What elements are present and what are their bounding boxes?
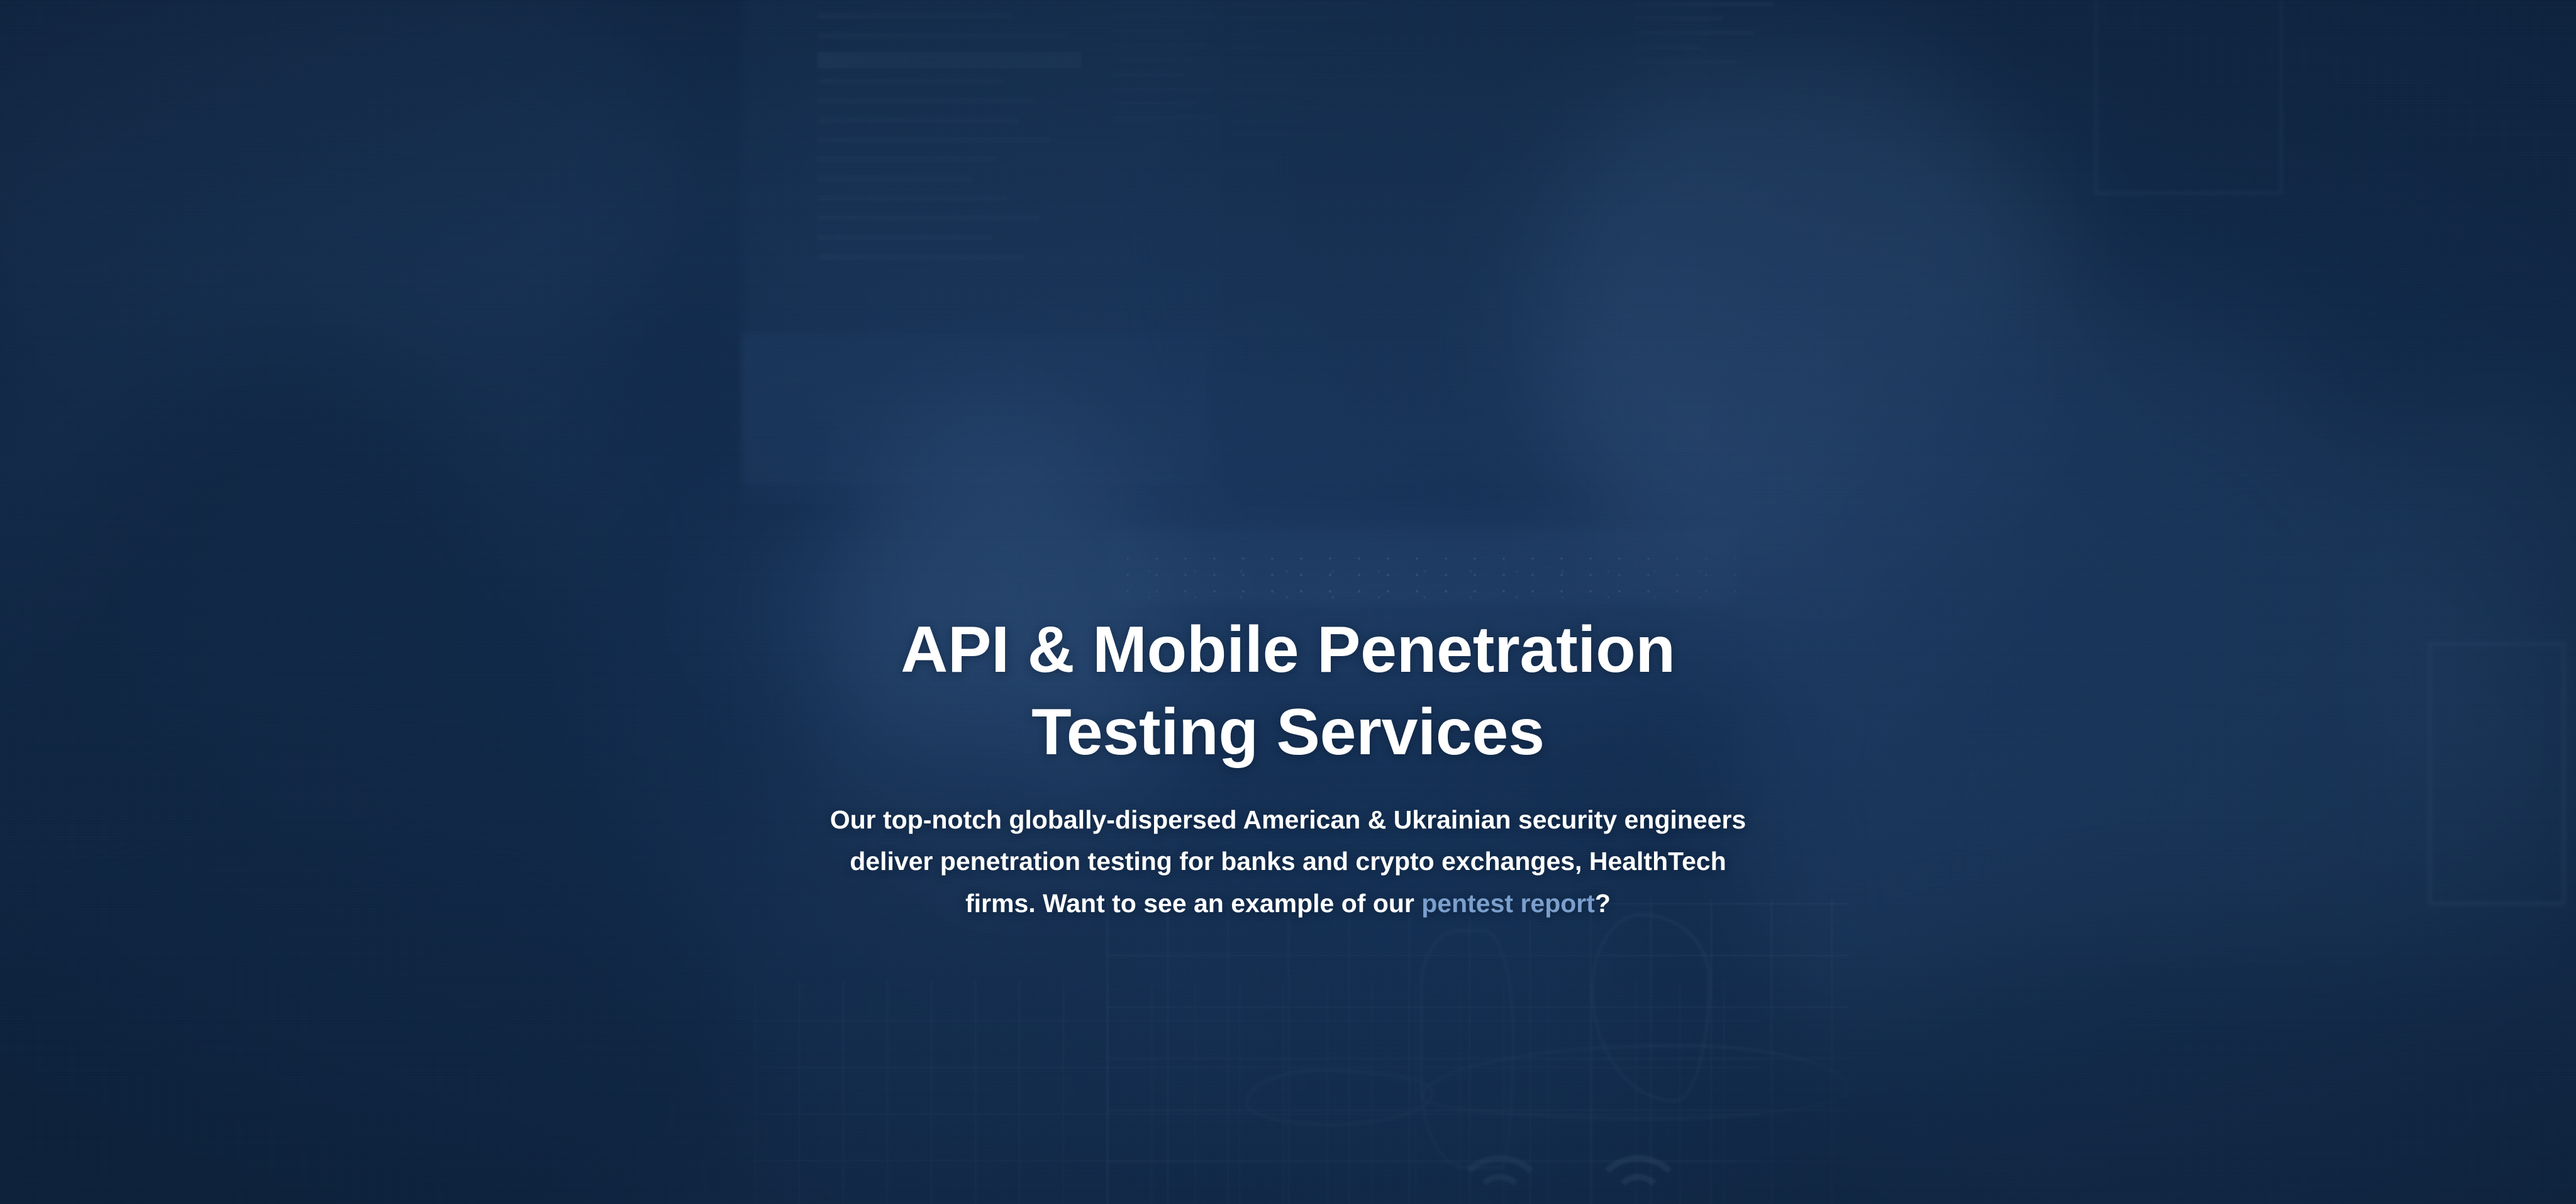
hero-subtitle: Our top-notch globally-dispersed America…	[813, 799, 1763, 924]
page-title-line-2: Testing Services	[901, 691, 1675, 774]
page-title-line-1: API & Mobile Penetration	[901, 609, 1675, 691]
hero-subtitle-text-after-link: ?	[1595, 889, 1611, 918]
hero-section: API & Mobile Penetration Testing Service…	[0, 0, 2576, 1204]
hero-content: API & Mobile Penetration Testing Service…	[0, 0, 2576, 1204]
pentest-report-link[interactable]: pentest report	[1421, 889, 1595, 918]
page-title: API & Mobile Penetration Testing Service…	[901, 609, 1675, 774]
